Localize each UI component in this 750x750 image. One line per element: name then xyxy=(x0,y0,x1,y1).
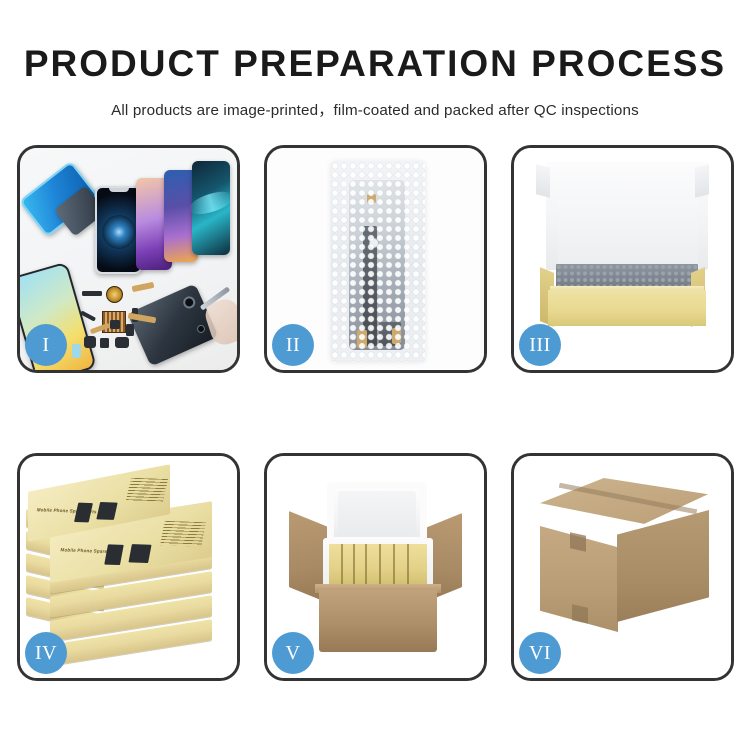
product-photo-swatch xyxy=(104,544,124,565)
teal-wave-phone-icon xyxy=(192,161,230,255)
spec-text-lines xyxy=(126,478,168,502)
flex-cable-icon xyxy=(132,282,155,292)
step-panel-1: I xyxy=(17,145,240,373)
page-title: PRODUCT PREPARATION PROCESS xyxy=(0,45,750,82)
step-badge-1: I xyxy=(25,324,67,366)
step-panel-4: Mobile Phone Spare Parts Mobile Phone Sp… xyxy=(17,453,240,681)
step-badge-4: IV xyxy=(25,632,67,674)
spare-part-icon xyxy=(110,320,120,329)
step-badge-6: VI xyxy=(519,632,561,674)
disassembled-phone-back-icon xyxy=(127,283,218,366)
box-front-panel-icon xyxy=(548,290,706,326)
notch-icon xyxy=(109,188,129,192)
wallpaper-burst-icon xyxy=(102,215,136,249)
spec-text-lines xyxy=(160,521,206,547)
spare-part-icon xyxy=(84,336,96,348)
box-divider xyxy=(407,544,409,586)
header: PRODUCT PREPARATION PROCESS All products… xyxy=(0,0,750,120)
process-steps-grid: I II xyxy=(17,145,735,681)
box-inner-wall-icon xyxy=(558,200,698,272)
carton-handle-tab-icon xyxy=(572,604,588,623)
step-panel-6: VI xyxy=(511,453,734,681)
box-divider xyxy=(353,544,355,586)
step-panel-2: II xyxy=(264,145,487,373)
carton-side-face-icon xyxy=(617,510,709,622)
step-badge-2: II xyxy=(272,324,314,366)
box-divider xyxy=(341,544,343,586)
spare-part-icon xyxy=(126,324,134,336)
spare-part-icon xyxy=(72,344,81,358)
carton-body-icon xyxy=(319,590,437,652)
box-divider xyxy=(393,544,395,586)
bubble-wrap-bag-icon xyxy=(331,162,425,362)
step-panel-5: V xyxy=(264,453,487,681)
bubble-texture-icon xyxy=(331,162,425,362)
foam-lid-icon xyxy=(327,482,427,544)
camera-lens-icon xyxy=(181,295,197,311)
spare-part-icon xyxy=(100,338,109,348)
page-subtitle: All products are image-printed，film-coat… xyxy=(0,98,750,120)
step-badge-5: V xyxy=(272,632,314,674)
product-photo-swatch xyxy=(128,544,151,563)
spare-part-icon xyxy=(115,337,129,348)
box-divider xyxy=(365,544,367,586)
box-lid-tab-icon xyxy=(536,164,550,197)
product-preparation-infographic: PRODUCT PREPARATION PROCESS All products… xyxy=(0,0,750,750)
camera-lens-secondary-icon xyxy=(196,324,207,335)
product-photo-swatch xyxy=(74,503,93,523)
copper-coil-icon xyxy=(106,286,123,303)
spare-part-icon xyxy=(82,291,102,296)
step-panel-3: III xyxy=(511,145,734,373)
carton-handle-tab-icon xyxy=(570,532,586,551)
foam-lid-inner-icon xyxy=(338,491,416,535)
step-badge-3: III xyxy=(519,324,561,366)
box-lid-tab-icon xyxy=(695,164,709,197)
box-divider xyxy=(379,544,381,586)
wave-highlight-icon xyxy=(187,187,236,218)
product-photo-swatch xyxy=(96,502,117,520)
black-display-phone-icon xyxy=(95,186,142,274)
packed-boxes-icon xyxy=(329,544,427,586)
